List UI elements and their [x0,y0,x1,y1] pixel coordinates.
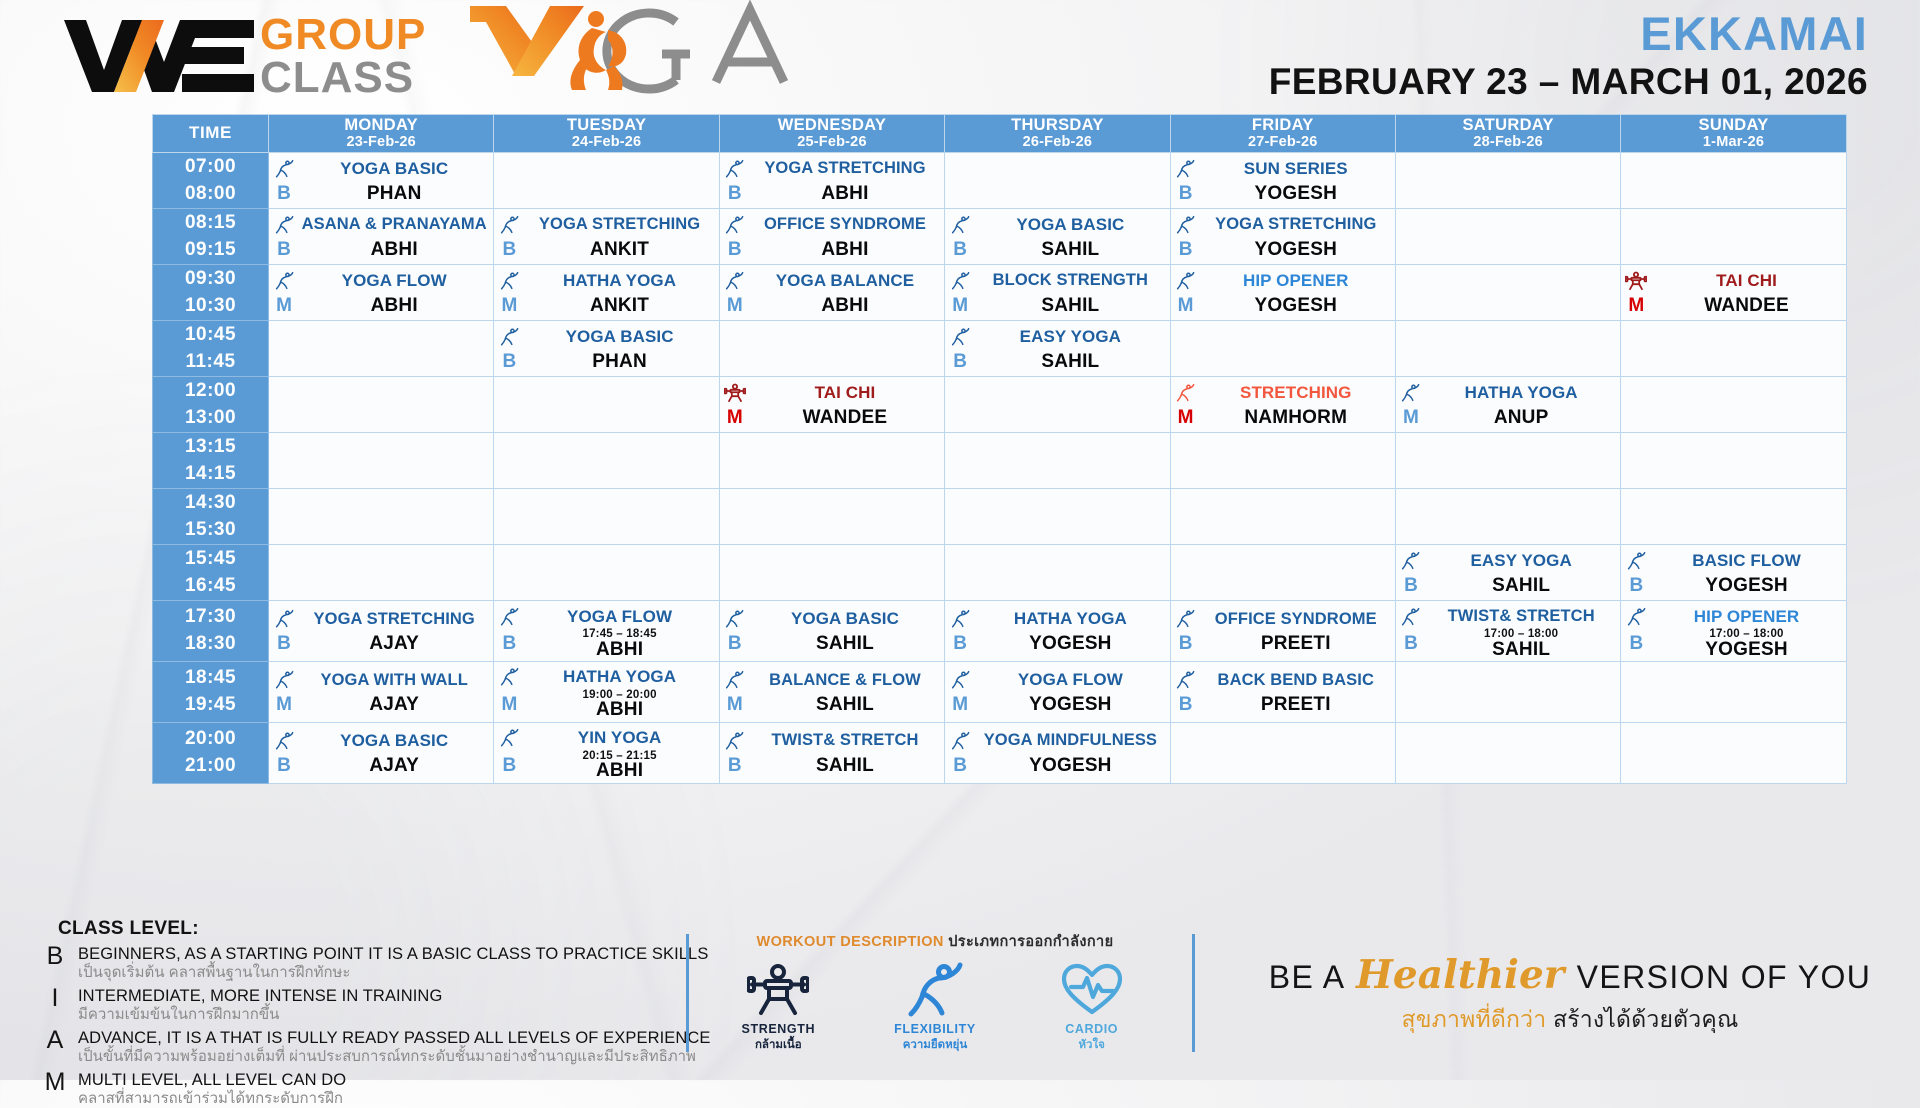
empty-cell [1395,265,1620,321]
time-end: 18:30 [153,631,268,658]
time-column-header: TIME [153,115,269,153]
class-name: EASY YOGA [975,328,1165,345]
workout-item-cardio: CARDIO หัวใจ [1017,959,1167,1054]
yoga-flexibility-icon [271,668,297,691]
instructor-name: PREETI [1201,695,1391,714]
time-slot-cell: 07:0008:00 [153,153,269,209]
empty-cell [269,545,494,601]
empty-cell [1621,209,1846,265]
class-cell[interactable]: YOGA FLOWMABHI [269,265,494,321]
instructor-name: ABHI [524,761,714,780]
empty-cell [1170,321,1395,377]
empty-cell [269,489,494,545]
class-cell[interactable]: TAI CHIMWANDEE [719,377,944,433]
class-level-badge: B [1623,575,1649,597]
schedule-row: 07:0008:00YOGA BASICBPHANYOGA STRETCHING… [153,153,1847,209]
time-end: 15:30 [153,517,268,544]
class-level-badge: M [722,407,748,429]
class-name: YOGA STRETCHING [299,611,489,628]
workout-items: STRENGTH กล้ามเนื้อ FLEXIBILITY ความยืดห… [700,959,1170,1054]
strength-icon [703,959,853,1017]
instructor-name: SAHIL [975,352,1165,371]
day-date: 23-Feb-26 [269,135,493,150]
schedule-row: 17:3018:30YOGA STRETCHINGBAJAYYOGA FLOWB… [153,601,1847,662]
class-cell[interactable]: YOGA BASICBPHAN [494,321,719,377]
day-name: THURSDAY [945,117,1169,134]
yoga-flexibility-icon [722,157,748,180]
class-level-badge: B [496,633,522,655]
yoga-flexibility-icon [271,213,297,236]
brand-logo: GROUP CLASS [64,6,864,108]
date-range: FEBRUARY 23 – MARCH 01, 2026 [1269,61,1868,102]
class-cell[interactable]: BACK BEND BASICBPREETI [1170,661,1395,722]
class-cell[interactable]: YOGA BALANCEMABHI [719,265,944,321]
class-level-badge: B [496,755,522,777]
class-cell[interactable]: YOGA BASICBSAHIL [945,209,1170,265]
class-cell[interactable]: HIP OPENERB17:00 – 18:00YOGESH [1621,601,1846,662]
page-header: GROUP CLASS EKKAMAI FEBRUARY 23 – [0,0,1920,112]
class-level-title: CLASS LEVEL: [58,918,802,940]
class-name: YOGA BASIC [750,610,940,627]
empty-cell [1395,209,1620,265]
class-cell[interactable]: YIN YOGAB20:15 – 21:15ABHI [494,722,719,783]
yoga-flexibility-icon [722,607,748,630]
instructor-name: SAHIL [750,634,940,653]
class-cell[interactable]: HIP OPENERMYOGESH [1170,265,1395,321]
class-level-key: I [42,984,68,1013]
class-name: YOGA STRETCHING [524,216,714,233]
instructor-name: YOGESH [1201,240,1391,259]
class-level-badge: B [1173,633,1199,655]
instructor-name: ABHI [299,240,489,259]
time-start: 08:15 [153,210,268,237]
class-name: TWIST& STRETCH [750,732,940,749]
class-cell[interactable]: YOGA FLOWB17:45 – 18:45ABHI [494,601,719,662]
class-cell[interactable]: STRETCHINGMNAMHORM [1170,377,1395,433]
class-level-badge: M [1623,295,1649,317]
time-slot-cell: 15:4516:45 [153,545,269,601]
yoga-wordmark [464,0,834,104]
class-level-desc-en: MULTI LEVEL, ALL LEVEL CAN DO [78,1071,346,1089]
instructor-name: ABHI [750,184,940,203]
class-level-badge: B [722,633,748,655]
class-cell[interactable]: TWIST& STRETCHB17:00 – 18:00SAHIL [1395,601,1620,662]
class-cell[interactable]: OFFICE SYNDROMEBABHI [719,209,944,265]
class-cell[interactable]: YOGA FLOWMYOGESH [945,661,1170,722]
class-name: YOGA BASIC [299,160,489,177]
yoga-flexibility-icon [271,269,297,292]
class-name: HIP OPENER [1201,272,1391,289]
class-level-key: A [42,1026,68,1055]
yoga-flexibility-icon [496,213,522,236]
empty-cell [945,433,1170,489]
class-level-badge: M [722,295,748,317]
yoga-flexibility-icon [1623,549,1649,572]
empty-cell [494,489,719,545]
time-slot-cell: 18:4519:45 [153,661,269,722]
yoga-flexibility-icon [496,665,522,688]
time-start: 07:00 [153,154,268,181]
branch-info: EKKAMAI FEBRUARY 23 – MARCH 01, 2026 [1269,10,1868,102]
class-level-badge: B [722,755,748,777]
class-name: OFFICE SYNDROME [1201,611,1391,628]
cardio-heart-icon [1017,959,1167,1017]
yoga-flexibility-icon [722,213,748,236]
day-header-friday: FRIDAY27-Feb-26 [1170,115,1395,153]
time-slot-cell: 14:3015:30 [153,489,269,545]
day-header-wednesday: WEDNESDAY25-Feb-26 [719,115,944,153]
time-start: 10:45 [153,322,268,349]
class-level-badge: M [947,295,973,317]
empty-cell [494,377,719,433]
time-end: 19:45 [153,692,268,719]
instructor-name: ANUP [1426,408,1616,427]
day-header-monday: MONDAY23-Feb-26 [269,115,494,153]
class-level-desc-th: เป็นจุดเริ่มต้น คลาสพื้นฐานในการฝึกทักษะ [78,964,351,981]
instructor-name: YOGESH [975,756,1165,775]
instructor-name: YOGESH [1651,640,1841,659]
class-name: HATHA YOGA [524,272,714,289]
class-name: HATHA YOGA [975,610,1165,627]
instructor-name: SAHIL [975,240,1165,259]
yoga-flexibility-icon [1398,549,1424,572]
workout-description-title: WORKOUT DESCRIPTION ประเภทการออกกำลังกาย [700,930,1170,953]
yoga-flexibility-icon [947,325,973,348]
instructor-name: YOGESH [1201,184,1391,203]
class-level-row: MMULTI LEVEL, ALL LEVEL CAN DOคลาสที่สาม… [42,1068,802,1108]
we-logo-icon [64,18,254,94]
yoga-flexibility-icon [271,729,297,752]
yoga-flexibility-icon [947,269,973,292]
class-cell[interactable]: YOGA MINDFULNESSBYOGESH [945,722,1170,783]
time-end: 11:45 [153,349,268,376]
class-name: EASY YOGA [1426,552,1616,569]
class-cell[interactable]: OFFICE SYNDROMEBPREETI [1170,601,1395,662]
empty-cell [719,433,944,489]
class-label: CLASS [260,57,426,100]
class-cell[interactable]: SUN SERIESBYOGESH [1170,153,1395,209]
class-level-badge: M [947,694,973,716]
class-cell[interactable]: HATHA YOGAMANUP [1395,377,1620,433]
class-level-badge: B [722,183,748,205]
class-cell[interactable]: YOGA STRETCHINGBABHI [719,153,944,209]
empty-cell [1621,661,1846,722]
class-cell[interactable]: YOGA STRETCHINGBAJAY [269,601,494,662]
instructor-name: ABHI [524,700,714,719]
yoga-flexibility-icon [496,605,522,628]
workout-item-strength: STRENGTH กล้ามเนื้อ [703,959,853,1054]
class-name: YOGA WITH WALL [299,672,489,689]
class-name: BALANCE & FLOW [750,672,940,689]
empty-cell [494,153,719,209]
class-level-badge: B [496,239,522,261]
yoga-flexibility-icon [1398,605,1424,628]
footer-divider-left [686,934,689,1052]
empty-cell [1395,722,1620,783]
class-cell[interactable]: HATHA YOGABYOGESH [945,601,1170,662]
empty-cell [1621,377,1846,433]
yoga-flexibility-icon [722,668,748,691]
class-cell[interactable]: BALANCE & FLOWMSAHIL [719,661,944,722]
class-name: YOGA STRETCHING [1201,216,1391,233]
day-date: 27-Feb-26 [1171,135,1395,150]
time-end: 16:45 [153,573,268,600]
empty-cell [945,153,1170,209]
instructor-name: SAHIL [975,296,1165,315]
class-level-desc-en: BEGINNERS, AS A STARTING POINT IT IS A B… [78,945,708,963]
time-end: 21:00 [153,753,268,780]
page-footer: CLASS LEVEL: BBEGINNERS, AS A STARTING P… [0,910,1920,1080]
time-slot-cell: 09:3010:30 [153,265,269,321]
class-cell[interactable]: HATHA YOGAM19:00 – 20:00ABHI [494,661,719,722]
cardio-label: CARDIO [1017,1022,1167,1036]
day-date: 26-Feb-26 [945,135,1169,150]
class-level-desc-en: INTERMEDIATE, MORE INTENSE IN TRAINING [78,987,442,1005]
tagline-th-accent: สุขภาพที่ดีกว่า [1402,1006,1547,1032]
class-cell[interactable]: YOGA STRETCHINGBANKIT [494,209,719,265]
yoga-flexibility-icon [947,668,973,691]
class-level-badge: M [1173,295,1199,317]
empty-cell [1170,545,1395,601]
class-name: HATHA YOGA [524,668,714,685]
empty-cell [269,321,494,377]
empty-cell [1395,661,1620,722]
yoga-flexibility-icon [1173,381,1199,404]
time-start: 18:45 [153,665,268,692]
class-level-badge: B [947,351,973,373]
cardio-label-th: หัวใจ [1017,1036,1167,1054]
class-level-badge: B [947,633,973,655]
empty-cell [1395,489,1620,545]
class-level-badge: M [271,295,297,317]
time-slot-cell: 20:0021:00 [153,722,269,783]
instructor-name: SAHIL [1426,576,1616,595]
schedule-row: 09:3010:30YOGA FLOWMABHIHATHA YOGAMANKIT… [153,265,1847,321]
schedule-row: 18:4519:45YOGA WITH WALLMAJAYHATHA YOGAM… [153,661,1847,722]
instructor-name: AJAY [299,695,489,714]
empty-cell [719,321,944,377]
class-level-badge: B [722,239,748,261]
class-level-key: B [42,942,68,971]
class-cell[interactable]: YOGA BASICBAJAY [269,722,494,783]
class-level-badge: B [1623,633,1649,655]
yoga-flexibility-icon [1173,269,1199,292]
class-name: STRETCHING [1201,384,1391,401]
class-cell[interactable]: BLOCK STRENGTHMSAHIL [945,265,1170,321]
class-name: YOGA FLOW [975,671,1165,688]
workout-item-flexibility: FLEXIBILITY ความยืดหยุ่น [860,959,1010,1054]
class-level-badge: B [1398,633,1424,655]
instructor-name: AJAY [299,756,489,775]
instructor-name: ANKIT [524,296,714,315]
schedule-row: 20:0021:00YOGA BASICBAJAYYIN YOGAB20:15 … [153,722,1847,783]
yoga-flexibility-icon [1623,605,1649,628]
instructor-name: WANDEE [750,408,940,427]
class-name: ASANA & PRANAYAMA [299,216,489,233]
empty-cell [1170,722,1395,783]
class-level-badge: B [1173,239,1199,261]
day-name: SATURDAY [1396,117,1620,134]
class-cell[interactable]: ASANA & PRANAYAMABABHI [269,209,494,265]
yoga-flexibility-icon [496,726,522,749]
empty-cell [494,545,719,601]
group-class-text: GROUP CLASS [260,14,426,99]
instructor-name: ABHI [299,296,489,315]
tagline-en-after: VERSION OF YOU [1577,959,1872,995]
instructor-name: YOGESH [1651,576,1841,595]
empty-cell [945,489,1170,545]
yoga-flexibility-icon [496,269,522,292]
empty-cell [1170,433,1395,489]
class-cell[interactable]: EASY YOGABSAHIL [1395,545,1620,601]
time-slot-cell: 08:1509:15 [153,209,269,265]
class-cell[interactable]: YOGA STRETCHINGBYOGESH [1170,209,1395,265]
instructor-name: ANKIT [524,240,714,259]
schedule-row: 15:4516:45EASY YOGABSAHILBASIC FLOWBYOGE… [153,545,1847,601]
class-cell[interactable]: YOGA BASICBPHAN [269,153,494,209]
class-name: YOGA MINDFULNESS [975,732,1165,749]
class-level-badge: M [1398,407,1424,429]
day-date: 28-Feb-26 [1396,135,1620,150]
yoga-flexibility-icon [722,729,748,752]
instructor-name: WANDEE [1651,296,1841,315]
class-name: SUN SERIES [1201,160,1391,177]
class-name: YOGA BASIC [975,216,1165,233]
instructor-name: PHAN [524,352,714,371]
class-level-badge: M [1173,407,1199,429]
day-name: TUESDAY [494,117,718,134]
tagline-th-rest: สร้างได้ด้วยตัวคุณ [1553,1006,1739,1032]
class-level-badge: B [271,633,297,655]
day-header-tuesday: TUESDAY24-Feb-26 [494,115,719,153]
time-start: 13:15 [153,434,268,461]
tagline-en-before: BE A [1269,959,1344,995]
yoga-flexibility-icon [947,729,973,752]
empty-cell [945,545,1170,601]
strength-icon [1623,271,1649,291]
class-level-badge: B [1173,694,1199,716]
day-name: WEDNESDAY [720,117,944,134]
class-cell[interactable]: TWIST& STRETCHBSAHIL [719,722,944,783]
class-name: BASIC FLOW [1651,552,1841,569]
empty-cell [1395,321,1620,377]
time-start: 12:00 [153,378,268,405]
workout-title-en: WORKOUT DESCRIPTION [757,934,944,950]
time-slot-cell: 13:1514:15 [153,433,269,489]
flexibility-label-th: ความยืดหยุ่น [860,1036,1010,1054]
instructor-name: PHAN [299,184,489,203]
strength-icon [722,383,748,403]
class-level-badge: M [496,295,522,317]
footer-divider-right [1192,934,1195,1052]
class-level-desc-th: มีความเข้มข้นในการฝึกมากขึ้น [78,1006,279,1023]
day-date: 1-Mar-26 [1621,135,1845,150]
class-level-desc-th: เป็นขั้นที่มีความพร้อมอย่างเต็มที่ ผ่านป… [78,1048,696,1065]
day-date: 25-Feb-26 [720,135,944,150]
time-start: 17:30 [153,604,268,631]
workout-title-th: ประเภทการออกกำลังกาย [948,934,1113,950]
instructor-name: ABHI [524,640,714,659]
empty-cell [1621,321,1846,377]
class-name: YOGA BASIC [524,328,714,345]
class-name: YIN YOGA [524,729,714,746]
class-name: TAI CHI [1651,272,1841,289]
class-cell[interactable]: BASIC FLOWBYOGESH [1621,545,1846,601]
yoga-flexibility-icon [1173,607,1199,630]
class-name: YOGA BALANCE [750,272,940,289]
class-level-desc-en: ADVANCE, IT IS A THAT IS FULLY READY PAS… [78,1029,711,1047]
class-level-badge: B [271,239,297,261]
yoga-flexibility-icon [947,607,973,630]
time-slot-cell: 10:4511:45 [153,321,269,377]
day-header-saturday: SATURDAY28-Feb-26 [1395,115,1620,153]
class-name: TWIST& STRETCH [1426,608,1616,625]
instructor-name: PREETI [1201,634,1391,653]
empty-cell [269,377,494,433]
empty-cell [494,433,719,489]
empty-cell [1621,153,1846,209]
yoga-flexibility-icon [722,269,748,292]
class-cell[interactable]: EASY YOGABSAHIL [945,321,1170,377]
class-cell[interactable]: YOGA WITH WALLMAJAY [269,661,494,722]
time-end: 09:15 [153,237,268,264]
yoga-flexibility-icon [1173,157,1199,180]
schedule-row: 10:4511:45YOGA BASICBPHANEASY YOGABSAHIL [153,321,1847,377]
day-date: 24-Feb-26 [494,135,718,150]
class-cell[interactable]: TAI CHIMWANDEE [1621,265,1846,321]
class-name: BACK BEND BASIC [1201,672,1391,689]
class-level-badge: B [496,351,522,373]
tagline: BE A Healthier VERSION OF YOU สุขภาพที่ด… [1230,952,1910,1038]
group-label: GROUP [260,14,426,57]
schedule-table: TIME MONDAY23-Feb-26TUESDAY24-Feb-26WEDN… [152,114,1847,784]
empty-cell [1621,489,1846,545]
class-level-badge: M [722,694,748,716]
day-header-sunday: SUNDAY1-Mar-26 [1621,115,1846,153]
instructor-name: SAHIL [750,756,940,775]
yoga-flexibility-icon [947,213,973,236]
class-cell[interactable]: HATHA YOGAMANKIT [494,265,719,321]
instructor-name: ABHI [750,240,940,259]
workout-description-legend: WORKOUT DESCRIPTION ประเภทการออกกำลังกาย… [700,930,1170,1054]
class-level-badge: M [496,694,522,716]
time-end: 10:30 [153,293,268,320]
time-start: 15:45 [153,546,268,573]
schedule-row: 08:1509:15ASANA & PRANAYAMABABHIYOGA STR… [153,209,1847,265]
schedule-row: 14:3015:30 [153,489,1847,545]
class-level-badge: B [271,183,297,205]
class-level-badge: B [947,239,973,261]
class-cell[interactable]: YOGA BASICBSAHIL [719,601,944,662]
flexibility-label: FLEXIBILITY [860,1022,1010,1036]
schedule-row: 13:1514:15 [153,433,1847,489]
instructor-name: NAMHORM [1201,408,1391,427]
time-slot-cell: 12:0013:00 [153,377,269,433]
instructor-name: ABHI [750,296,940,315]
class-name: YOGA BASIC [299,732,489,749]
empty-cell [1621,722,1846,783]
instructor-name: YOGESH [1201,296,1391,315]
class-level-badge: B [947,755,973,777]
class-name: YOGA FLOW [299,272,489,289]
empty-cell [719,545,944,601]
day-header-thursday: THURSDAY26-Feb-26 [945,115,1170,153]
strength-label-th: กล้ามเนื้อ [703,1036,853,1054]
day-name: MONDAY [269,117,493,134]
class-level-key: M [42,1068,68,1097]
empty-cell [945,377,1170,433]
yoga-flexibility-icon [271,157,297,180]
